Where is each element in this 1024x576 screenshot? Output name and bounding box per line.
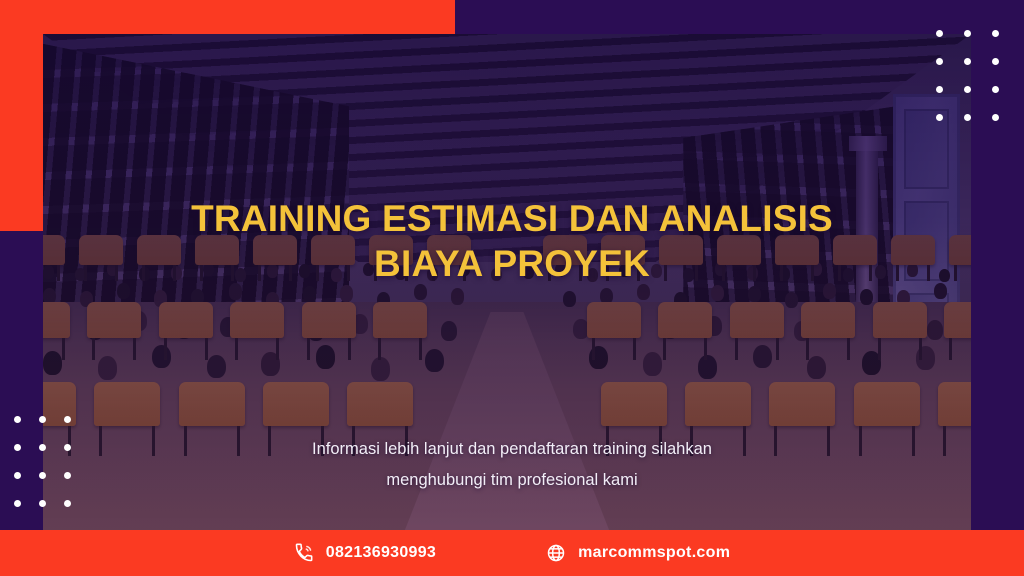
dot xyxy=(936,86,943,93)
dot xyxy=(992,30,999,37)
dot xyxy=(964,30,971,37)
dot xyxy=(992,114,999,121)
dot xyxy=(14,472,21,479)
dot xyxy=(39,500,46,507)
dot xyxy=(936,58,943,65)
dot xyxy=(964,86,971,93)
dot xyxy=(14,444,21,451)
contact-phone[interactable]: 082136930993 xyxy=(294,543,436,563)
dot xyxy=(64,416,71,423)
dot xyxy=(39,472,46,479)
phone-number: 082136930993 xyxy=(326,544,436,562)
subtitle-text: Informasi lebih lanjut dan pendaftaran t… xyxy=(0,434,1024,495)
red-top-bar xyxy=(0,0,455,34)
page-title: TRAINING ESTIMASI DAN ANALISIS BIAYA PRO… xyxy=(0,196,1024,286)
dot-grid-bottom-left xyxy=(14,416,89,528)
dot xyxy=(964,58,971,65)
footer-contacts: 082136930993 marcommspot.com xyxy=(0,530,1024,576)
dot-grid-top-right xyxy=(915,30,999,142)
dot xyxy=(992,86,999,93)
dot xyxy=(64,500,71,507)
subtitle-line-2: menghubungi tim profesional kami xyxy=(140,465,884,496)
contact-website[interactable]: marcommspot.com xyxy=(546,543,730,563)
dot xyxy=(39,416,46,423)
headline-line-2: BIAYA PROYEK xyxy=(60,241,964,286)
dot xyxy=(39,444,46,451)
dot xyxy=(936,30,943,37)
dot xyxy=(936,114,943,121)
dot xyxy=(964,114,971,121)
phone-ring-icon xyxy=(294,543,314,563)
dot xyxy=(14,500,21,507)
dot xyxy=(64,472,71,479)
dot xyxy=(14,416,21,423)
dot xyxy=(992,58,999,65)
headline-line-1: TRAINING ESTIMASI DAN ANALISIS xyxy=(60,196,964,241)
dot xyxy=(64,444,71,451)
globe-icon xyxy=(546,543,566,563)
subtitle-line-1: Informasi lebih lanjut dan pendaftaran t… xyxy=(140,434,884,465)
website-url: marcommspot.com xyxy=(578,544,730,562)
promo-poster: TRAINING ESTIMASI DAN ANALISIS BIAYA PRO… xyxy=(0,0,1024,576)
